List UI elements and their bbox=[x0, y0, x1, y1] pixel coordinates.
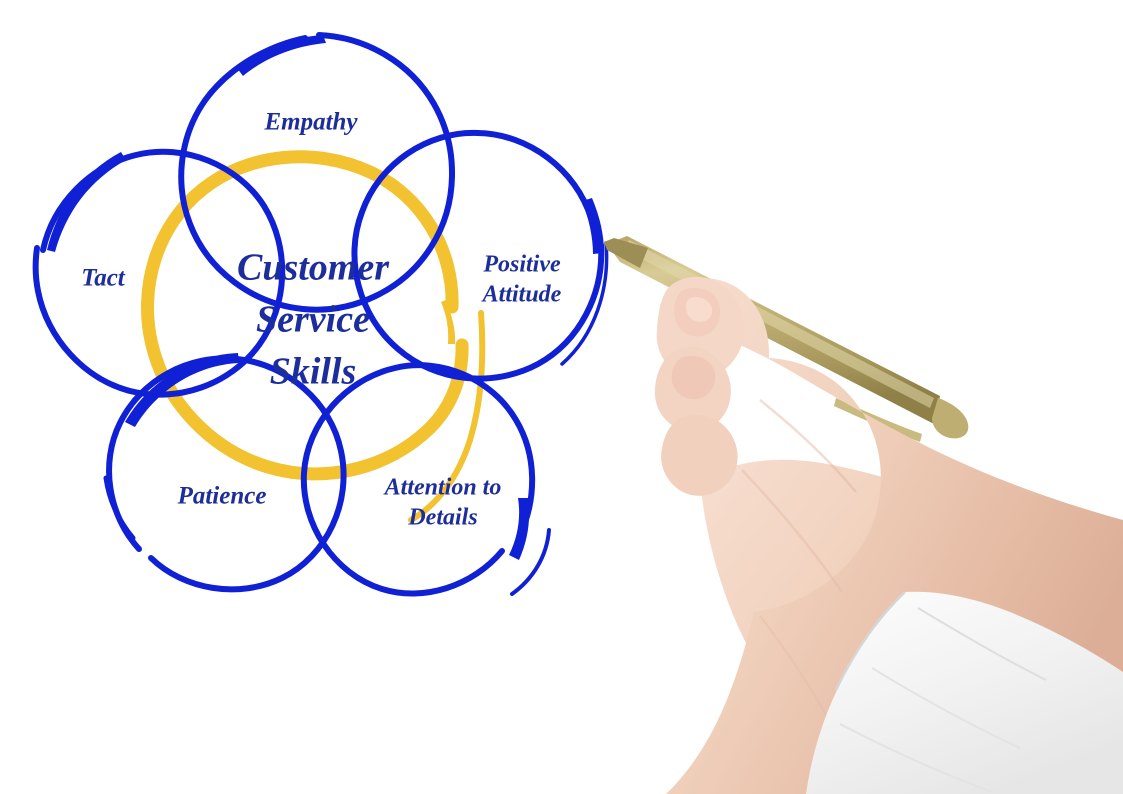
positive-attitude-ring-arc bbox=[354, 133, 601, 379]
tact-ring-thick-end bbox=[47, 152, 126, 252]
node-label-tact: Tact bbox=[81, 265, 126, 292]
center-label-line2: Service bbox=[256, 299, 370, 341]
center-label-line3: Skills bbox=[270, 351, 357, 393]
pen-button bbox=[932, 398, 968, 438]
diagram-canvas: Empathy Tact Positive Attitude Patience bbox=[0, 0, 1123, 794]
center-label-group: Customer Service Skills bbox=[237, 247, 390, 393]
node-label-positive-attitude-line1: Positive bbox=[482, 252, 561, 278]
empathy-ring-thick-end bbox=[237, 35, 326, 76]
middle-fingernail bbox=[672, 356, 716, 399]
patience-ring-tail bbox=[106, 478, 133, 538]
node-label-attention-line2: Details bbox=[407, 505, 477, 531]
node-label-positive-attitude-line2: Attitude bbox=[481, 282, 562, 308]
hand-holding-pen bbox=[604, 236, 1123, 794]
positive-attitude-ring-thick-end bbox=[582, 198, 604, 254]
ring-finger bbox=[661, 415, 738, 496]
node-label-empathy: Empathy bbox=[263, 109, 358, 136]
node-circle-attention-to-details[interactable]: Attention to Details bbox=[304, 365, 549, 594]
node-label-patience: Patience bbox=[177, 483, 267, 510]
node-label-attention-line1: Attention to bbox=[383, 475, 502, 501]
customer-service-skills-diagram: Empathy Tact Positive Attitude Patience bbox=[0, 0, 1123, 794]
center-label-line1: Customer bbox=[237, 247, 390, 289]
attention-ring-thick-end bbox=[509, 498, 529, 560]
